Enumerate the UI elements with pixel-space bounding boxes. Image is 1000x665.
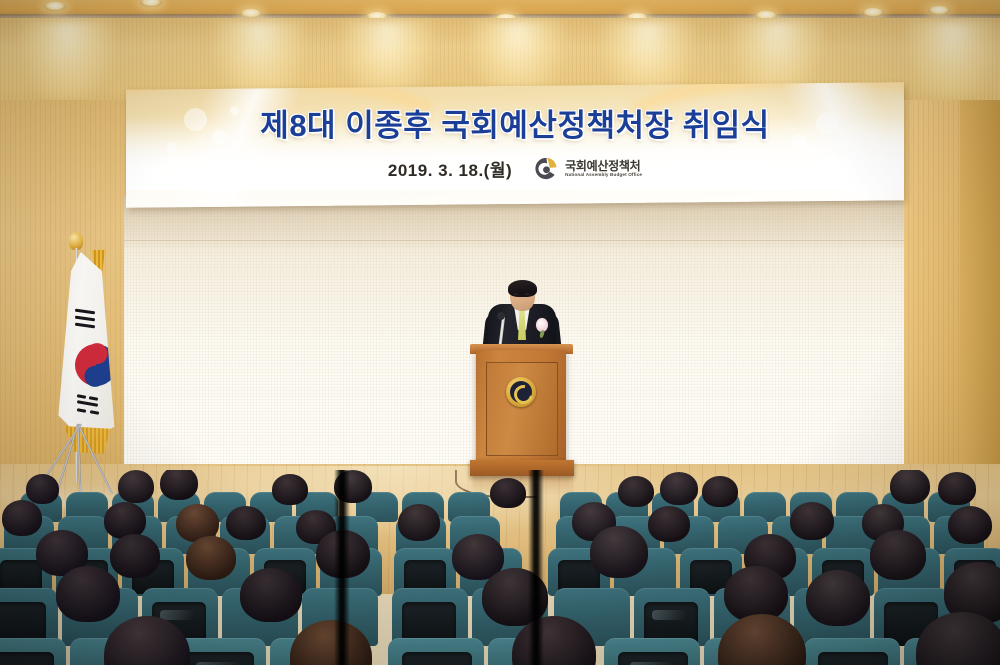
ceiling-light-icon [862,8,884,17]
trigram-mark [77,400,98,407]
audience-head [870,530,926,580]
audience-head [226,506,266,540]
event-banner: 제8대 이종후 국회예산정책처장 취임식 2019. 3. 18.(월) 국회예… [126,82,904,207]
audience-head [806,570,870,626]
backdrop-seam [124,240,904,241]
event-date: 2019. 3. 18.(월) [388,156,512,181]
wall-light-glow [20,20,115,106]
south-korea-flag-icon [50,252,120,442]
wall-light-glow [905,20,1000,106]
trigram-mark [77,408,86,413]
banner-title: 제8대 이종후 국회예산정책처장 취임식 [126,100,904,145]
taeguk-symbol-icon [70,339,123,392]
auditorium-photo: 제8대 이종후 국회예산정책처장 취임식 2019. 3. 18.(월) 국회예… [0,0,1000,665]
ceiling-light-icon [44,2,66,11]
trigram-mark [75,323,95,329]
aisle-gap [528,470,544,665]
trigram-mark [75,316,95,322]
audience-head [398,504,440,541]
seat-cushion [0,652,54,665]
audience-head [948,506,992,544]
speaker-hair [508,280,537,297]
trigram-mark [90,410,99,415]
nabo-c-logo-icon [534,156,559,181]
seat-highlight [160,610,194,620]
organization-name-kr: 국회예산정책처 [565,160,642,172]
audience-head [648,506,690,542]
audience-head [272,474,308,505]
audience-head [490,478,526,508]
audience-head [186,536,236,580]
audience-head [118,470,154,503]
right-wood-wall-edge [960,100,1000,480]
aisle-gap [334,470,350,665]
audience-head [790,502,834,540]
organization-logo: 국회예산정책처 National Assembly Budget Office [534,156,642,181]
seat-cushion [402,652,472,665]
trigram-mark [77,394,86,399]
korean-flag-assembly [44,228,154,486]
audience-head [26,474,59,504]
audience-head [938,472,976,505]
audience-head [56,566,120,622]
banner-subline: 2019. 3. 18.(월) 국회예산정책처 National Assembl… [126,156,904,181]
trigram-mark [75,309,95,315]
organization-name-en: National Assembly Budget Office [565,173,642,178]
audience-head [240,568,302,622]
seat-cushion [818,652,888,665]
microphone-icon [497,312,505,320]
audience-head [660,472,698,505]
ceiling-light-icon [240,9,262,18]
audience-seating [0,470,1000,665]
trigram-mark [89,396,98,401]
nabo-emblem-icon [506,377,536,407]
audience-head [160,470,198,500]
speaker-eye-right [525,293,529,295]
audience-head [890,470,930,504]
ceiling-light-icon [928,6,950,15]
audience-head [702,476,738,507]
audience-head [590,526,648,578]
audience-head [618,476,654,507]
audience-head [2,500,42,536]
organization-name-block: 국회예산정책처 National Assembly Budget Office [565,160,642,178]
audience-head [110,534,160,578]
podium-and-speaker [462,282,582,492]
seat-highlight [652,610,686,620]
speaker-eye-left [514,293,518,295]
